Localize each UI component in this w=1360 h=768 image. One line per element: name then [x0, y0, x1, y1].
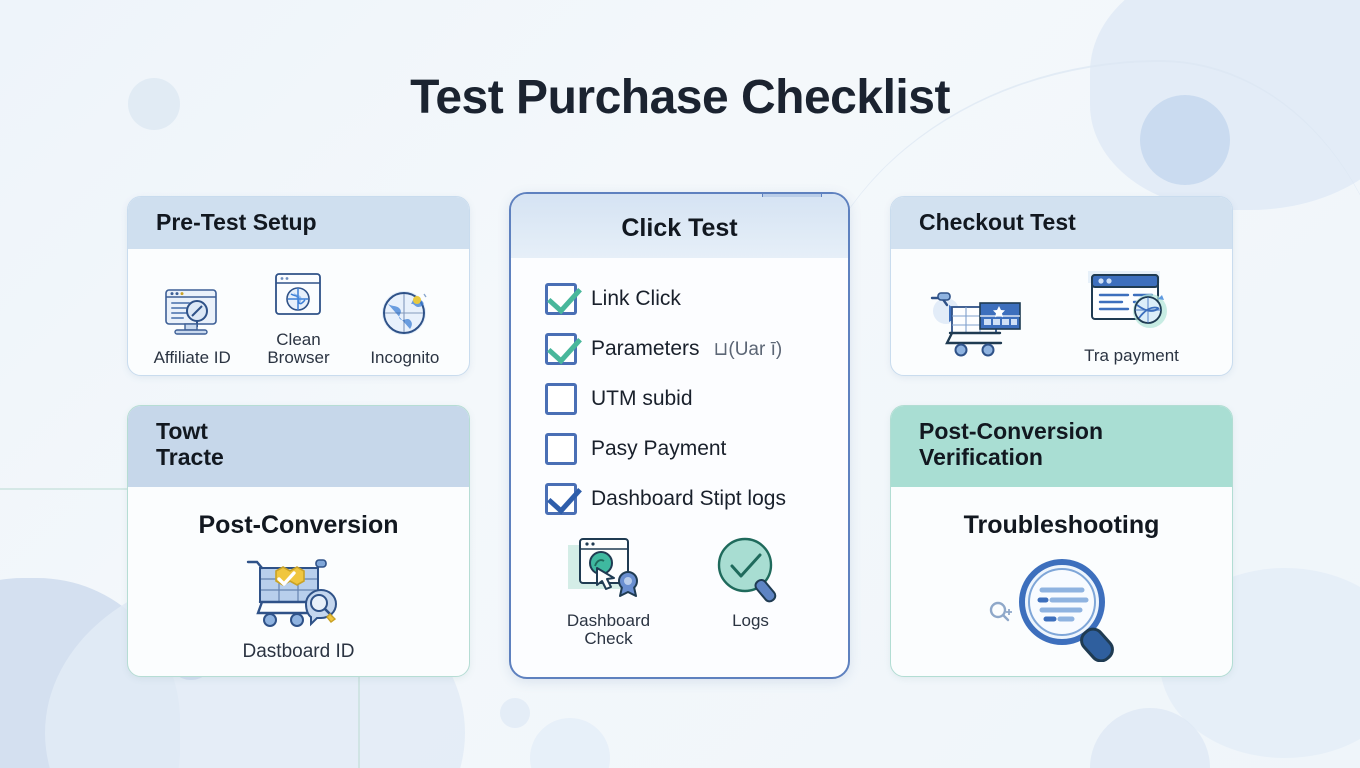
click-test-item-logs-label: Logs — [732, 612, 769, 630]
card-tracking-header-line1: Towt — [156, 419, 443, 445]
tracking-icon-row: Dastboard ID — [144, 546, 453, 662]
checkbox-utm-subid[interactable] — [545, 383, 577, 415]
pre-test-item-incognito[interactable]: Incognito — [357, 283, 453, 367]
click-test-icon-row: Dashboard Check Logs — [511, 534, 848, 648]
tracking-item-dashboard-id[interactable]: Dastboard ID — [219, 552, 379, 662]
checkout-item-payment[interactable]: Tra payment — [1067, 265, 1197, 365]
checklist-row[interactable]: Dashboard Stipt logs — [545, 474, 848, 524]
card-tracking-header-line2: Tracte — [156, 445, 443, 471]
checkbox-parameters[interactable] — [545, 333, 577, 365]
checklist-row[interactable]: UTM subid — [545, 374, 848, 424]
checklist-row[interactable]: Pasy Payment — [545, 424, 848, 474]
checkout-item-payment-label: Tra payment — [1084, 347, 1179, 365]
card-tracking-subheading: Post-Conversion — [144, 511, 453, 540]
post-conversion-item-troubleshooting[interactable] — [952, 552, 1172, 666]
pre-test-item-affiliate-id[interactable]: Affiliate ID — [144, 283, 240, 367]
checkbox-dashboard-stipt-logs[interactable] — [545, 483, 577, 515]
card-checkout-test-body: Tra payment — [891, 249, 1232, 376]
click-test-item-logs[interactable]: Logs — [701, 534, 801, 648]
card-post-conversion-body: Troubleshooting — [891, 487, 1232, 678]
card-tracking[interactable]: Towt Tracte Post-Conversion — [127, 405, 470, 677]
card-post-conversion-header: Post-Conversion Verification — [891, 406, 1232, 487]
checklist-label: Dashboard Stipt logs — [591, 487, 786, 511]
checklist-label: UTM subid — [591, 387, 693, 411]
checklist-row[interactable]: Parameters ⊔(Uar ī) — [545, 324, 848, 374]
pre-test-icon-row: Affiliate ID Clean Browser — [144, 259, 453, 367]
pre-test-item-incognito-label: Incognito — [370, 349, 439, 367]
card-tab-notch — [762, 192, 822, 197]
post-conversion-icon-row — [907, 546, 1216, 666]
checklist-label: Parameters — [591, 337, 700, 361]
tracking-item-dashboard-id-label: Dastboard ID — [243, 642, 355, 662]
card-checkout-test[interactable]: Checkout Test — [890, 196, 1233, 376]
click-test-item-dashboard-check-label: Dashboard Check — [559, 612, 659, 648]
cart-badge-search-icon — [240, 552, 358, 638]
magnifier-document-icon — [952, 552, 1172, 662]
browser-payment-icon — [1082, 265, 1182, 343]
card-tracking-body: Post-Conversion — [128, 487, 469, 678]
checkout-item-cart[interactable] — [927, 283, 1027, 365]
card-click-test-header: Click Test — [511, 194, 848, 258]
check-circle-magnifier-icon — [713, 534, 789, 608]
card-post-conversion-subheading: Troubleshooting — [907, 511, 1216, 540]
checklist-label: Pasy Payment — [591, 437, 726, 461]
browser-click-badge-icon — [566, 534, 652, 608]
checkbox-link-click[interactable] — [545, 283, 577, 315]
card-pre-test-setup[interactable]: Pre-Test Setup — [127, 196, 470, 376]
card-tracking-header: Towt Tracte — [128, 406, 469, 487]
card-checkout-test-header: Checkout Test — [891, 197, 1232, 249]
card-post-conversion-header-line1: Post-Conversion — [919, 419, 1206, 445]
card-pre-test-setup-body: Affiliate ID Clean Browser — [128, 249, 469, 376]
shopping-cart-card-icon — [924, 283, 1030, 361]
click-test-item-dashboard-check[interactable]: Dashboard Check — [559, 534, 659, 648]
checklist-row[interactable]: Link Click — [545, 274, 848, 324]
checkbox-pasy-payment[interactable] — [545, 433, 577, 465]
checkout-icon-row: Tra payment — [907, 259, 1216, 365]
checklist-board: Pre-Test Setup — [0, 0, 1360, 768]
monitor-search-icon — [161, 283, 223, 345]
card-post-conversion-header-line2: Verification — [919, 445, 1206, 471]
click-test-checklist: Link Click Parameters ⊔(Uar ī) UTM subid… — [511, 258, 848, 524]
pre-test-item-clean-browser[interactable]: Clean Browser — [250, 265, 346, 367]
card-post-conversion-verification[interactable]: Post-Conversion Verification Troubleshoo… — [890, 405, 1233, 677]
card-click-test[interactable]: Click Test Link Click Parameters ⊔(Uar ī… — [509, 192, 850, 679]
pre-test-item-clean-browser-label: Clean Browser — [250, 331, 346, 367]
browser-globe-icon — [271, 265, 325, 327]
globe-icon — [376, 283, 434, 345]
card-pre-test-setup-header: Pre-Test Setup — [128, 197, 469, 249]
checklist-sublabel: ⊔(Uar ī) — [714, 338, 783, 361]
pre-test-item-affiliate-id-label: Affiliate ID — [154, 349, 231, 367]
checklist-label: Link Click — [591, 287, 681, 311]
